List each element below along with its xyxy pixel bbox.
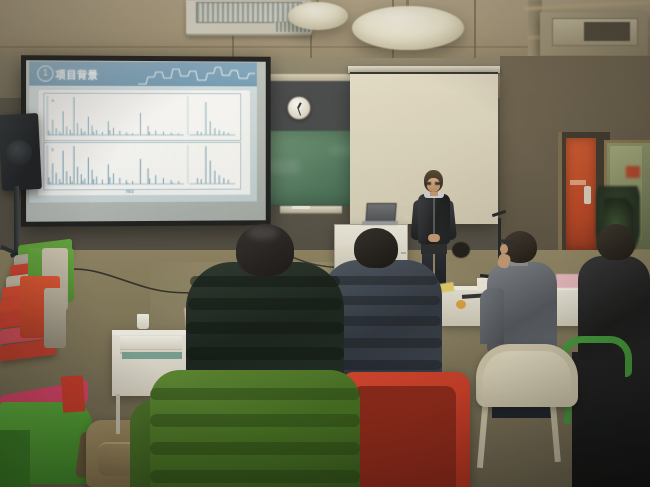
document-folder <box>122 352 182 359</box>
puffer-seam <box>186 322 344 334</box>
presenter-face <box>427 178 440 192</box>
attendee-head-partial <box>452 242 470 258</box>
ac-vent-grille <box>196 2 302 23</box>
ceiling-panel-line <box>0 46 540 48</box>
attendee-green-torso <box>186 262 344 384</box>
speaker-cone <box>6 140 32 166</box>
puffer-seam <box>186 347 344 360</box>
puffer-seam <box>150 414 360 427</box>
puffer-seam <box>326 276 438 285</box>
puffer-seam <box>190 276 340 287</box>
chalk-stick <box>292 206 310 209</box>
red-sign <box>626 166 640 178</box>
door-label <box>570 180 586 185</box>
spectrum-xlabel: m/z <box>126 189 134 195</box>
table-leg <box>116 394 120 434</box>
orange-fruit <box>456 300 466 309</box>
attendee-bluegray-head <box>354 228 398 268</box>
puffer-seam <box>150 388 360 400</box>
panel-label-a: a <box>51 98 54 103</box>
chair-back-red <box>61 375 85 412</box>
orange-door[interactable] <box>566 138 596 250</box>
photo-scene: 1 项目背景 a b m/z <box>0 0 650 487</box>
attendee-gray-arm <box>480 288 504 344</box>
skyline-graphic-icon <box>138 64 255 86</box>
projected-slide: 1 项目背景 a b m/z <box>29 61 257 202</box>
attendee-green-hair-highlight <box>248 226 278 240</box>
presenter-hands <box>428 234 440 242</box>
ac-unit-vent <box>584 22 630 41</box>
ceiling-panel-line <box>474 0 476 58</box>
puffer-seam <box>150 442 360 455</box>
chair-beige[interactable] <box>476 344 578 407</box>
attendee-gray-ear <box>500 244 508 254</box>
door-handle[interactable] <box>584 186 591 204</box>
puffer-seam <box>188 298 342 310</box>
pendant-lamp-large <box>352 6 464 50</box>
stacked-papers <box>120 336 182 349</box>
stacked-chair-gray-back <box>44 288 66 348</box>
chair-red-inner <box>352 386 456 487</box>
spectrum-plot-a: a <box>43 93 239 139</box>
chalk-tray <box>280 206 342 214</box>
panel-label-b: b <box>51 147 54 152</box>
paper-cup <box>137 314 149 329</box>
puffer-seam <box>150 470 360 483</box>
pendant-lamp-small <box>288 2 348 30</box>
spectrum-plot-b: b <box>43 142 239 188</box>
slide-title: 项目背景 <box>56 67 99 82</box>
laptop-base[interactable] <box>362 221 399 225</box>
attendee-far-right-head <box>597 224 635 260</box>
presenter-glasses <box>426 182 441 185</box>
attendee-green-jacket-lower <box>150 370 360 487</box>
mouse[interactable] <box>404 215 410 219</box>
chair-leg-green <box>0 430 30 487</box>
wall-clock <box>287 96 311 120</box>
slide-number-badge: 1 <box>37 65 53 81</box>
